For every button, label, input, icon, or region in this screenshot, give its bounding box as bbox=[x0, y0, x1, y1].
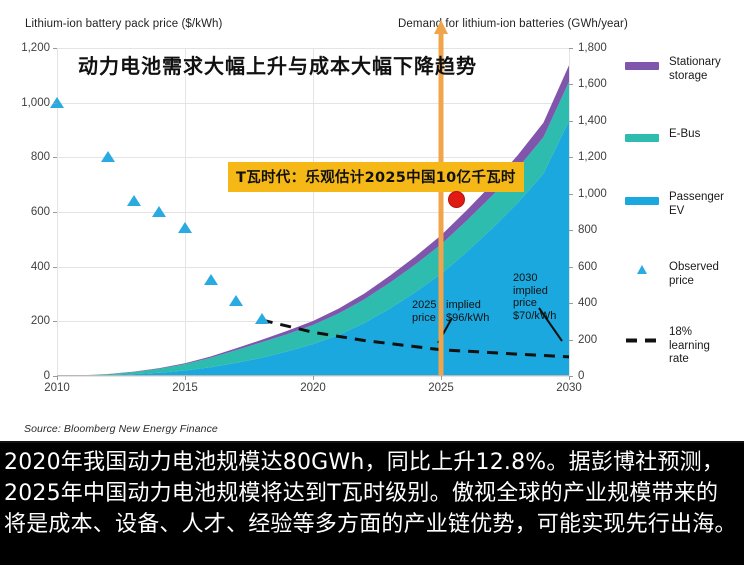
tick-mark bbox=[569, 340, 573, 341]
tick-mark bbox=[569, 48, 573, 49]
observed-price-marker bbox=[178, 222, 192, 233]
x-axis-tick: 2015 bbox=[172, 382, 198, 394]
legend-label: Passenger EV bbox=[669, 191, 724, 218]
observed-price-marker bbox=[101, 151, 115, 162]
legend-label: E-Bus bbox=[669, 128, 700, 142]
tick-mark bbox=[53, 157, 57, 158]
gridline-vertical bbox=[569, 48, 570, 376]
legend-triangle-icon bbox=[637, 265, 647, 274]
implied-price-2025-label-a: 2025 price bbox=[412, 299, 446, 324]
y-axis-tick-left: 800 bbox=[8, 151, 50, 163]
caption-text: 2020年我国动力电池规模达80GWh，同比上升12.8%。据彭博社预测，202… bbox=[0, 443, 744, 540]
implied-price-2030-label: 2030 implied price $70/kWh bbox=[513, 272, 571, 322]
y-axis-tick-left: 1,000 bbox=[8, 97, 50, 109]
tick-mark bbox=[441, 376, 442, 380]
right-axis-title: Demand for lithium-ion batteries (GWh/ye… bbox=[398, 18, 628, 30]
plot-area bbox=[57, 48, 569, 376]
left-axis-title: Lithium-ion battery pack price ($/kWh) bbox=[25, 18, 222, 30]
y-axis-tick-right: 1,000 bbox=[578, 188, 607, 200]
tick-mark bbox=[569, 230, 573, 231]
tick-mark bbox=[569, 157, 573, 158]
chart-title: 动力电池需求大幅上升与成本大幅下降趋势 bbox=[78, 50, 477, 79]
tick-mark bbox=[53, 103, 57, 104]
tick-mark bbox=[569, 121, 573, 122]
source-note: Source: Bloomberg New Energy Finance bbox=[24, 423, 218, 435]
y-axis-tick-right: 200 bbox=[578, 334, 597, 346]
legend-swatch bbox=[625, 134, 659, 142]
y-axis-tick-left: 400 bbox=[8, 261, 50, 273]
learning-rate-line bbox=[262, 320, 569, 357]
y-axis-tick-right: 1,600 bbox=[578, 78, 607, 90]
caption-bar: 2020年我国动力电池规模达80GWh，同比上升12.8%。据彭博社预测，202… bbox=[0, 443, 744, 565]
tick-mark bbox=[569, 194, 573, 195]
legend-label: Stationary storage bbox=[669, 56, 721, 83]
observed-price-marker bbox=[152, 206, 166, 217]
y-axis-tick-left: 200 bbox=[8, 315, 50, 327]
y-axis-tick-left: 0 bbox=[8, 370, 50, 382]
chart-panel: Lithium-ion battery pack price ($/kWh) D… bbox=[0, 0, 744, 443]
y-axis-tick-right: 400 bbox=[578, 297, 597, 309]
observed-price-marker bbox=[204, 274, 218, 285]
observed-price-marker bbox=[229, 295, 243, 306]
tick-mark bbox=[57, 376, 58, 380]
observed-price-marker bbox=[127, 195, 141, 206]
x-axis-tick: 2025 bbox=[428, 382, 454, 394]
y-axis-tick-left: 600 bbox=[8, 206, 50, 218]
tick-mark bbox=[185, 376, 186, 380]
y-axis-tick-right: 1,400 bbox=[578, 115, 607, 127]
tick-mark bbox=[313, 376, 314, 380]
legend-label: 18% learning rate bbox=[669, 326, 710, 367]
tick-mark bbox=[53, 321, 57, 322]
y-axis-tick-right: 600 bbox=[578, 261, 597, 273]
legend-dashed-line-icon bbox=[625, 332, 659, 341]
x-axis-tick: 2020 bbox=[300, 382, 326, 394]
callout-annotation: T瓦时代：乐观估计2025中国10亿千瓦时 bbox=[228, 162, 524, 192]
x-axis-tick: 2030 bbox=[556, 382, 582, 394]
legend-swatch bbox=[625, 62, 659, 70]
legend-swatch bbox=[625, 197, 659, 205]
tera-watt-hour-marker-dot bbox=[448, 191, 465, 208]
tick-mark bbox=[53, 212, 57, 213]
x-axis-tick: 2010 bbox=[44, 382, 70, 394]
observed-price-marker bbox=[255, 313, 269, 324]
tick-mark bbox=[569, 267, 573, 268]
legend-label: Observed price bbox=[669, 261, 719, 288]
tick-mark bbox=[53, 267, 57, 268]
learning-rate-and-leaders bbox=[57, 48, 569, 376]
y-axis-tick-right: 800 bbox=[578, 224, 597, 236]
y-axis-tick-right: 0 bbox=[578, 370, 584, 382]
y-axis-tick-left: 1,200 bbox=[8, 42, 50, 54]
tick-mark bbox=[569, 84, 573, 85]
y-axis-tick-right: 1,800 bbox=[578, 42, 607, 54]
tick-mark bbox=[53, 48, 57, 49]
chart-page: Lithium-ion battery pack price ($/kWh) D… bbox=[0, 0, 744, 565]
y-axis-tick-right: 1,200 bbox=[578, 151, 607, 163]
tick-mark bbox=[569, 376, 570, 380]
